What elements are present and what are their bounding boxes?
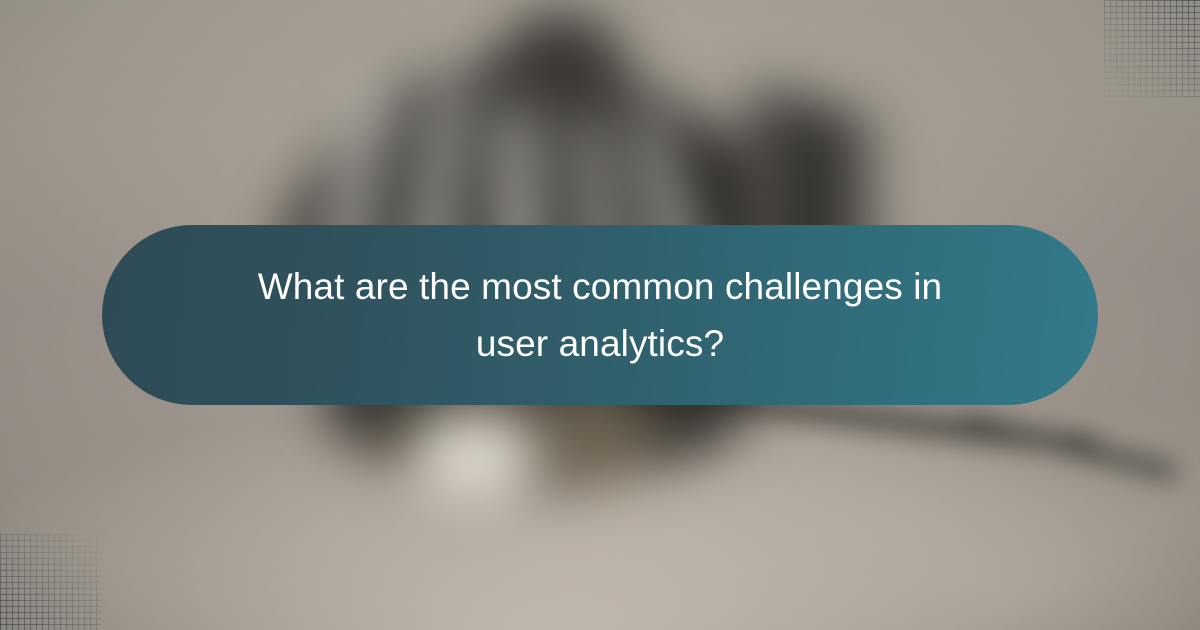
question-text: What are the most common challenges in u… [258,258,943,372]
question-pill: What are the most common challenges in u… [102,225,1098,405]
question-card: What are the most common challenges in u… [0,0,1200,630]
